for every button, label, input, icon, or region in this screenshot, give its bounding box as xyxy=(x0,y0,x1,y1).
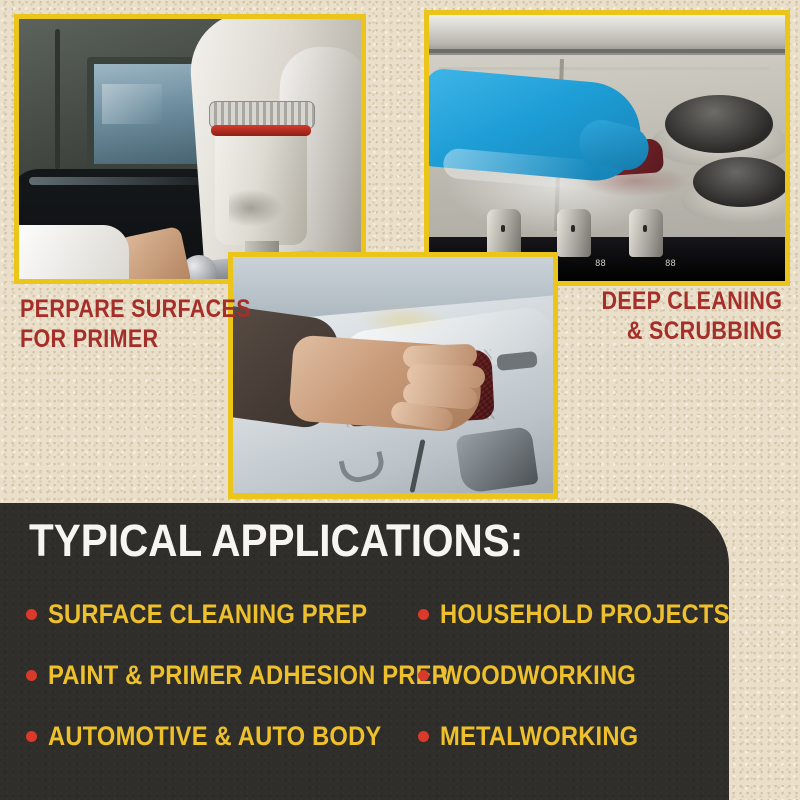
applications-right-column: HOUSEHOLD PROJECTS WOODWORKING METALWORK… xyxy=(418,598,728,781)
infographic-canvas: 88 88 88 88 PERPARE SU xyxy=(0,0,800,800)
list-item: SURFACE CLEANING PREP xyxy=(26,598,426,659)
applications-left-column: SURFACE CLEANING PREP PAINT & PRIMER ADH… xyxy=(26,598,426,781)
bullet-dot-icon xyxy=(26,670,37,681)
auto-body-scuffing-photo-art xyxy=(233,257,553,493)
application-label: AUTOMOTIVE & AUTO BODY xyxy=(48,720,381,752)
application-label: PAINT & PRIMER ADHESION PREP xyxy=(48,659,448,691)
gold-accent-line xyxy=(228,495,558,499)
bullet-dot-icon xyxy=(26,731,37,742)
list-item: PAINT & PRIMER ADHESION PREP xyxy=(26,659,426,720)
caption-prepare-surfaces: PERPARE SURFACES FOR PRIMER xyxy=(20,294,251,354)
typical-applications-title: TYPICAL APPLICATIONS: xyxy=(29,517,523,565)
deep-cleaning-photo-art: 88 88 88 88 xyxy=(429,15,785,281)
deep-cleaning-photo: 88 88 88 88 xyxy=(424,10,790,286)
prepare-surfaces-photo xyxy=(14,14,366,284)
bullet-dot-icon xyxy=(418,670,429,681)
bullet-dot-icon xyxy=(26,609,37,620)
list-item: HOUSEHOLD PROJECTS xyxy=(418,598,728,659)
list-item: WOODWORKING xyxy=(418,659,728,720)
bullet-dot-icon xyxy=(418,731,429,742)
caption-deep-cleaning: DEEP CLEANING & SCRUBBING xyxy=(601,286,782,346)
auto-body-scuffing-photo xyxy=(228,252,558,498)
application-label: HOUSEHOLD PROJECTS xyxy=(440,598,730,630)
application-label: SURFACE CLEANING PREP xyxy=(48,598,367,630)
bullet-dot-icon xyxy=(418,609,429,620)
prepare-surfaces-photo-art xyxy=(19,19,361,279)
application-label: METALWORKING xyxy=(440,720,638,752)
list-item: AUTOMOTIVE & AUTO BODY xyxy=(26,720,426,781)
application-label: WOODWORKING xyxy=(440,659,636,691)
list-item: METALWORKING xyxy=(418,720,728,781)
